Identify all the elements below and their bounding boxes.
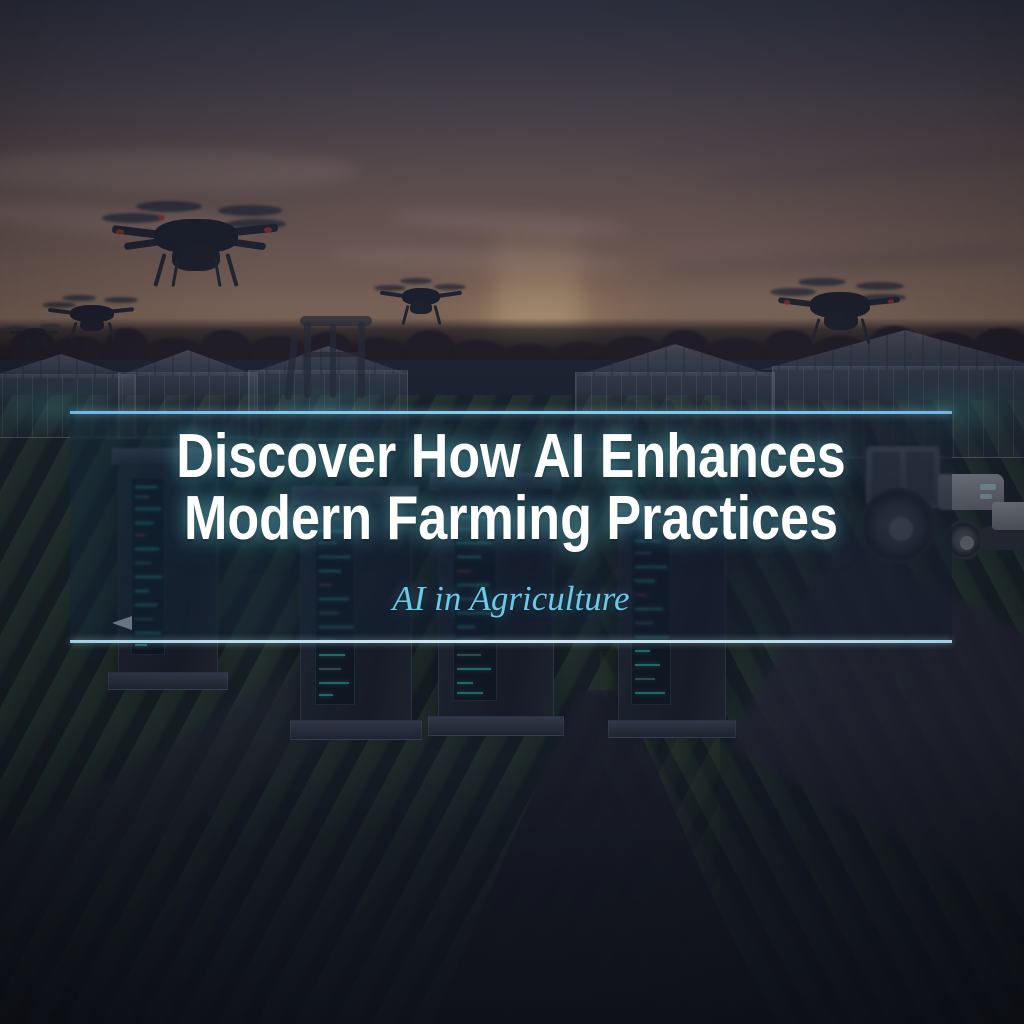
drone-led bbox=[784, 300, 790, 305]
data-line bbox=[319, 668, 341, 670]
play-triangle-icon[interactable] bbox=[112, 616, 132, 630]
drone-rotor bbox=[434, 284, 466, 290]
data-line bbox=[635, 692, 665, 694]
drone-right bbox=[768, 274, 908, 350]
page-title: Discover How AI Enhances Modern Farming … bbox=[141, 426, 882, 550]
drone-landing-leg bbox=[401, 305, 409, 325]
drone-landing-leg bbox=[25, 337, 30, 348]
headline-panel: Discover How AI Enhances Modern Farming … bbox=[70, 411, 952, 643]
drone-camera-pod bbox=[80, 319, 104, 331]
drone-rotor bbox=[102, 213, 164, 223]
drone-landing-leg bbox=[433, 305, 441, 325]
gantry-crossbeam bbox=[302, 352, 366, 357]
drone-rotor bbox=[40, 324, 62, 328]
server-rack-1-base bbox=[108, 672, 228, 690]
drone-rotor bbox=[798, 278, 846, 286]
drone-led bbox=[158, 215, 165, 220]
data-line bbox=[319, 682, 349, 684]
drone-rotor bbox=[856, 282, 904, 290]
gantry-leg-mid bbox=[330, 324, 336, 398]
data-line bbox=[635, 678, 655, 680]
drone-led bbox=[264, 227, 272, 233]
drone-landing-leg bbox=[108, 322, 116, 340]
drone-camera-pod bbox=[824, 312, 858, 330]
drone-landing-leg bbox=[43, 337, 48, 348]
drone-center bbox=[372, 276, 468, 330]
data-line bbox=[457, 682, 473, 684]
tractor-headlight bbox=[980, 494, 992, 499]
drone-landing-leg bbox=[860, 318, 870, 344]
subtitle: AI in Agriculture bbox=[70, 580, 952, 618]
drone-landing-leg bbox=[153, 253, 166, 287]
gantry-leg-right bbox=[358, 322, 365, 398]
drone-rotor bbox=[42, 302, 76, 308]
data-line bbox=[635, 664, 660, 666]
drone-landing-leg bbox=[810, 318, 820, 344]
tractor-implement-body bbox=[992, 502, 1024, 530]
drone-landing-leg bbox=[70, 322, 78, 340]
drone-rotor bbox=[374, 285, 406, 291]
drone-landing-leg bbox=[225, 253, 238, 287]
tractor-wheel-hub bbox=[960, 536, 974, 550]
data-line bbox=[135, 644, 147, 646]
ground-shadow-veil bbox=[0, 720, 1024, 1024]
data-line bbox=[457, 668, 491, 670]
gantry-leg-left bbox=[304, 322, 311, 398]
drone-rotor bbox=[136, 201, 202, 212]
headline-line-2: Modern Farming Practices bbox=[141, 488, 882, 550]
drone-rotor bbox=[770, 288, 816, 296]
data-line bbox=[319, 694, 333, 696]
data-line bbox=[319, 654, 345, 656]
drone-rotor bbox=[62, 295, 96, 301]
data-line bbox=[457, 654, 481, 656]
headline-line-1: Discover How AI Enhances bbox=[176, 422, 846, 491]
tractor-headlight bbox=[980, 484, 996, 490]
drone-rotor bbox=[400, 278, 432, 284]
drone-large-left bbox=[100, 195, 290, 295]
drone-led bbox=[116, 229, 124, 235]
banner-canvas: Discover How AI Enhances Modern Farming … bbox=[0, 0, 1024, 1024]
drone-rotor bbox=[104, 297, 138, 303]
data-line bbox=[457, 692, 483, 694]
drone-led bbox=[888, 299, 894, 304]
drone-tiny-edge-left bbox=[6, 320, 62, 350]
drone-rotor bbox=[218, 205, 282, 216]
drone-camera-pod bbox=[410, 302, 432, 314]
data-line bbox=[635, 650, 650, 652]
